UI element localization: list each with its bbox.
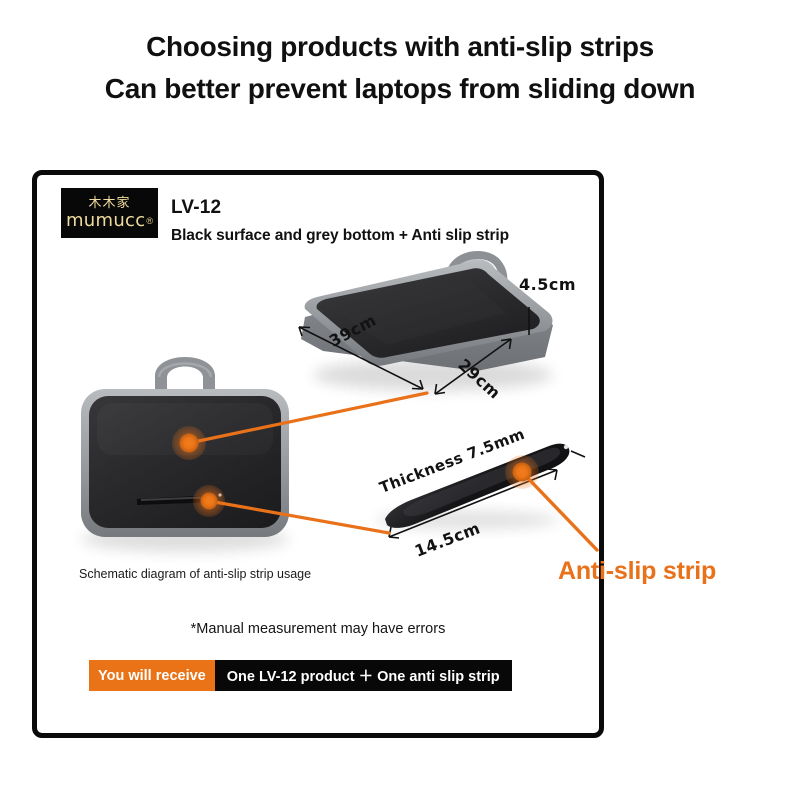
headline-line-1: Choosing products with anti-slip strips <box>0 26 800 68</box>
dimension-label-width: 29cm <box>454 355 504 403</box>
headline-line-2: Can better prevent laptops from sliding … <box>0 68 800 110</box>
receive-bar-label: You will receive <box>89 660 215 691</box>
brand-logo-cn-text: 木木家 <box>88 196 130 211</box>
registered-trademark-icon: ® <box>146 212 153 231</box>
product-illustration <box>37 175 599 733</box>
product-model-code: LV-12 <box>171 197 221 219</box>
product-angled-view <box>301 255 553 391</box>
product-front-view <box>81 357 289 552</box>
receive-bar-contents: One LV-12 product ＋ One anti slip strip <box>215 660 512 691</box>
callout-markers <box>172 393 597 550</box>
measurement-disclaimer: *Manual measurement may have errors <box>37 621 599 637</box>
brand-logo: 木木家 mumucc ® <box>61 188 158 238</box>
brand-logo-en-wrap: mumucc ® <box>66 211 153 231</box>
product-info-panel: 木木家 mumucc ® LV-12 Black surface and gre… <box>32 170 604 738</box>
dimension-label-strip-thickness: Thickness 7.5mm <box>377 425 527 497</box>
dimension-label-strip-length: 14.5cm <box>412 518 483 560</box>
you-will-receive-bar: You will receive One LV-12 product ＋ One… <box>89 660 512 691</box>
brand-logo-en-text: mumucc <box>66 211 145 230</box>
dimension-label-length: 39cm <box>326 310 379 350</box>
headline-block: Choosing products with anti-slip strips … <box>0 26 800 110</box>
schematic-caption: Schematic diagram of anti-slip strip usa… <box>79 567 311 581</box>
dimension-label-height: 4.5cm <box>519 275 576 294</box>
anti-slip-strip-callout-label: Anti-slip strip <box>558 557 716 586</box>
product-description: Black surface and grey bottom + Anti sli… <box>171 227 509 245</box>
